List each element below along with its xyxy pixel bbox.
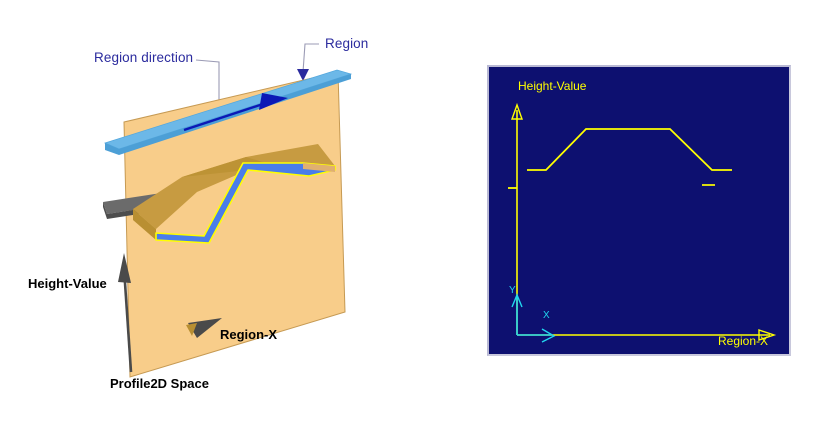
wcs-x-label: X xyxy=(543,310,550,321)
callout-label-region: Region xyxy=(325,36,368,51)
wcs-y-label: Y xyxy=(509,285,516,296)
axis-label-height-value: Height-Value xyxy=(28,276,107,291)
region-leader xyxy=(303,44,319,72)
illustration-svg xyxy=(0,0,460,434)
axis-label-profile2d-space: Profile2D Space xyxy=(110,376,209,391)
chart-y-axis-label: Height-Value xyxy=(518,79,586,93)
profile2d-space-illustration: Region direction Region Height-Value Reg… xyxy=(0,0,460,434)
profile-polyline xyxy=(527,129,732,170)
profile-chart-svg xyxy=(489,67,789,354)
chart-x-axis-label: Region-X xyxy=(718,334,768,348)
profile2d-viewport[interactable]: Height-Value Region-X Y X xyxy=(487,65,791,356)
callout-label-region-direction: Region direction xyxy=(94,50,193,65)
axis-label-region-x: Region-X xyxy=(220,327,277,342)
